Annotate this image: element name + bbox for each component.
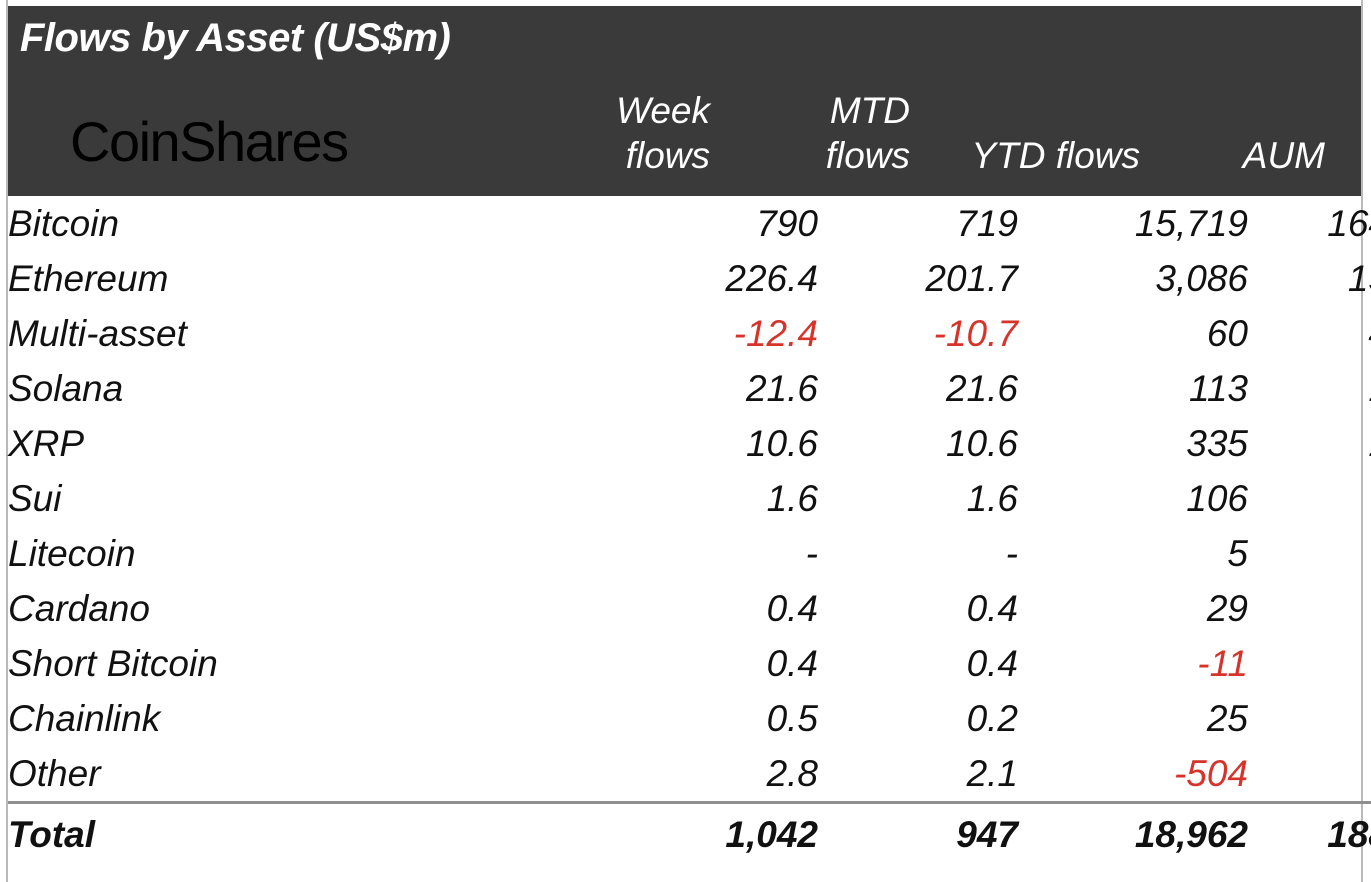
cell-asset-name: Cardano: [8, 581, 608, 636]
total-cell-mtd-flows: 947: [818, 803, 1018, 867]
cell-week-flows: 790: [608, 196, 818, 251]
cell-mtd-flows: 1.6: [818, 471, 1018, 526]
column-header-aum: AUM: [1112, 133, 1325, 178]
cell-aum: 74: [1248, 691, 1371, 746]
cell-mtd-flows: 719: [818, 196, 1018, 251]
column-header-mtd: MTD flows: [710, 88, 910, 178]
cell-asset-name: Multi-asset: [8, 306, 608, 361]
cell-mtd-flows: -10.7: [818, 306, 1018, 361]
table-row: Chainlink0.50.22574: [8, 691, 1371, 746]
cell-ytd-flows: 113: [1018, 361, 1248, 416]
cell-mtd-flows: 2.1: [818, 746, 1018, 803]
cell-ytd-flows: 60: [1018, 306, 1248, 361]
cell-week-flows: 10.6: [608, 416, 818, 471]
cell-ytd-flows: 3,086: [1018, 251, 1248, 306]
column-header-week: Week flows: [500, 88, 710, 178]
cell-week-flows: 21.6: [608, 361, 818, 416]
table-row: Other2.82.1-504419: [8, 746, 1371, 803]
cell-mtd-flows: -: [818, 526, 1018, 581]
cell-aum: 419: [1248, 746, 1371, 803]
cell-week-flows: 226.4: [608, 251, 818, 306]
cell-aum: 1,436: [1248, 361, 1371, 416]
cell-aum: 89: [1248, 636, 1371, 691]
cell-mtd-flows: 21.6: [818, 361, 1018, 416]
cell-asset-name: Solana: [8, 361, 608, 416]
table-row: Multi-asset-12.4-10.7604,103: [8, 306, 1371, 361]
cell-mtd-flows: 0.4: [818, 636, 1018, 691]
flows-table-body: Bitcoin79071915,719164,182Ethereum226.42…: [8, 196, 1371, 866]
cell-aum: 164,182: [1248, 196, 1371, 251]
flows-table: Bitcoin79071915,719164,182Ethereum226.42…: [8, 196, 1371, 866]
table-row: Sui1.61.6106264: [8, 471, 1371, 526]
cell-asset-name: XRP: [8, 416, 608, 471]
cell-ytd-flows: -504: [1018, 746, 1248, 803]
cell-ytd-flows: 15,719: [1018, 196, 1248, 251]
table-row: Bitcoin79071915,719164,182: [8, 196, 1371, 251]
cell-ytd-flows: 106: [1018, 471, 1248, 526]
total-cell-ytd-flows: 18,962: [1018, 803, 1248, 867]
cell-asset-name: Sui: [8, 471, 608, 526]
cell-week-flows: 0.5: [608, 691, 818, 746]
cell-aum: 1,409: [1248, 416, 1371, 471]
cell-asset-name: Other: [8, 746, 608, 803]
cell-week-flows: 1.6: [608, 471, 818, 526]
cell-aum: 199: [1248, 526, 1371, 581]
cell-ytd-flows: 335: [1018, 416, 1248, 471]
cell-mtd-flows: 201.7: [818, 251, 1018, 306]
cell-mtd-flows: 10.6: [818, 416, 1018, 471]
total-cell-week-flows: 1,042: [608, 803, 818, 867]
cell-ytd-flows: -11: [1018, 636, 1248, 691]
cell-asset-name: Litecoin: [8, 526, 608, 581]
cell-asset-name: Bitcoin: [8, 196, 608, 251]
cell-ytd-flows: 25: [1018, 691, 1248, 746]
cell-week-flows: -: [608, 526, 818, 581]
cell-week-flows: -12.4: [608, 306, 818, 361]
table-header-banner: Flows by Asset (US$m) CoinShares Week fl…: [8, 6, 1361, 196]
table-total-row: Total1,04294718,962188,156: [8, 803, 1371, 867]
flows-by-asset-table-card: Flows by Asset (US$m) CoinShares Week fl…: [0, 0, 1371, 882]
column-header-ytd: YTD flows: [910, 133, 1140, 178]
cell-aum: 4,103: [1248, 306, 1371, 361]
coinshares-logo: CoinShares: [70, 114, 348, 170]
cell-mtd-flows: 0.4: [818, 581, 1018, 636]
total-cell-aum: 188,156: [1248, 803, 1371, 867]
cell-asset-name: Chainlink: [8, 691, 608, 746]
table-row: Ethereum226.4201.73,08615,864: [8, 251, 1371, 306]
page-title: Flows by Asset (US$m): [20, 16, 450, 61]
cell-week-flows: 0.4: [608, 636, 818, 691]
cell-asset-name: Ethereum: [8, 251, 608, 306]
table-row: Solana21.621.61131,436: [8, 361, 1371, 416]
table-row: Short Bitcoin0.40.4-1189: [8, 636, 1371, 691]
cell-asset-name: Short Bitcoin: [8, 636, 608, 691]
cell-total-label: Total: [8, 803, 608, 867]
cell-mtd-flows: 0.2: [818, 691, 1018, 746]
cell-aum: 264: [1248, 471, 1371, 526]
table-row: XRP10.610.63351,409: [8, 416, 1371, 471]
cell-ytd-flows: 5: [1018, 526, 1248, 581]
table-row: Litecoin--5199: [8, 526, 1371, 581]
cell-ytd-flows: 29: [1018, 581, 1248, 636]
cell-aum: 116: [1248, 581, 1371, 636]
cell-week-flows: 0.4: [608, 581, 818, 636]
table-row: Cardano0.40.429116: [8, 581, 1371, 636]
cell-week-flows: 2.8: [608, 746, 818, 803]
cell-aum: 15,864: [1248, 251, 1371, 306]
